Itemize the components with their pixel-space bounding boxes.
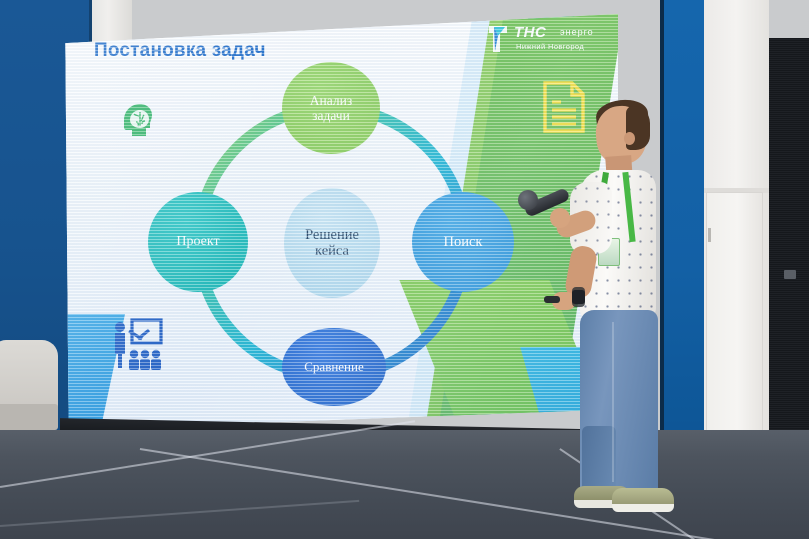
tns-energo-logo: ТНС энерго Нижний Новгород (486, 22, 604, 58)
loudspeaker-plate (784, 270, 796, 279)
node-search[interactable]: Поиск (412, 192, 514, 292)
node-center-solution[interactable]: Решение кейса (284, 188, 380, 298)
node-center-label-2: кейса (305, 243, 359, 259)
led-screen-surface: ТНС энерго Нижний Новгород Постановка за… (62, 14, 618, 430)
chair-seat (0, 404, 58, 430)
node-analysis-label-2: задачи (310, 108, 352, 123)
hall-floor (0, 430, 809, 539)
node-search-label: Поиск (444, 234, 483, 250)
smartwatch[interactable] (572, 290, 585, 304)
floor-line (0, 420, 415, 487)
node-compare-label: Сравнение (304, 360, 364, 375)
presenter-mic-hand (550, 208, 570, 228)
microphone-head-icon (518, 190, 538, 210)
presenter (540, 96, 680, 516)
floor-line (140, 448, 809, 539)
node-compare[interactable]: Сравнение (282, 328, 386, 406)
logo-brand-suffix: энерго (560, 27, 594, 37)
jeans-seam (612, 322, 614, 482)
tns-energo-logo-icon (486, 24, 510, 54)
cycle-diagram: Анализ задачи Проект Поиск Сравнение Реш… (134, 56, 534, 406)
presentation-clicker[interactable] (544, 296, 560, 303)
presenter-ear (624, 132, 635, 145)
node-analysis[interactable]: Анализ задачи (282, 62, 380, 154)
logo-city: Нижний Новгород (516, 42, 584, 51)
logo-brand: ТНС (514, 24, 546, 41)
right-door (706, 192, 763, 450)
node-analysis-label-1: Анализ (310, 93, 352, 108)
presenter-shoe-front-sole (612, 504, 674, 512)
node-project[interactable]: Проект (148, 192, 248, 292)
led-screen: ТНС энерго Нижний Новгород Постановка за… (62, 14, 618, 430)
presentation-photo-scene: ТНС энерго Нижний Новгород Постановка за… (0, 0, 809, 539)
node-project-label: Проект (176, 234, 219, 250)
loudspeaker (769, 38, 809, 448)
node-center-label-1: Решение (305, 227, 359, 243)
right-door-handle (708, 228, 711, 242)
floor-line (0, 500, 359, 527)
